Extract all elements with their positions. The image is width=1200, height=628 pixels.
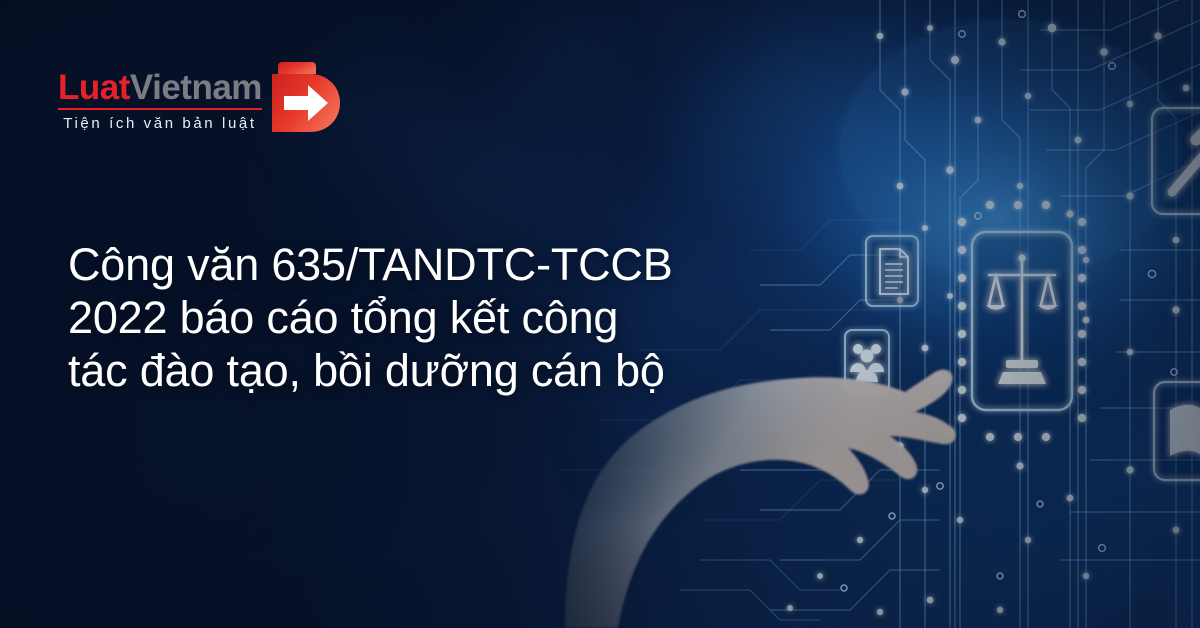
luatvietnam-logo[interactable]: LuatVietnam Tiện ích văn bản luật (58, 56, 342, 138)
headline-line-1: Công văn 635/TANDTC-TCCB (68, 238, 748, 291)
logo-wordmark: LuatVietnam (58, 70, 262, 105)
logo-underline (58, 108, 262, 110)
logo-tagline: Tiện ích văn bản luật (58, 115, 262, 132)
folder-right-arrow-icon (268, 56, 342, 138)
logo-text-block: LuatVietnam Tiện ích văn bản luật (58, 56, 262, 132)
logo-word-secondary: Vietnam (130, 68, 262, 107)
page-title: Công văn 635/TANDTC-TCCB 2022 báo cáo tổ… (68, 238, 748, 397)
headline-line-2: 2022 báo cáo tổng kết công (68, 291, 748, 344)
banner-canvas: LuatVietnam Tiện ích văn bản luật (0, 0, 1200, 628)
headline-line-3: tác đào tạo, bồi dưỡng cán bộ (68, 344, 748, 397)
logo-word-primary: Luat (58, 68, 130, 107)
